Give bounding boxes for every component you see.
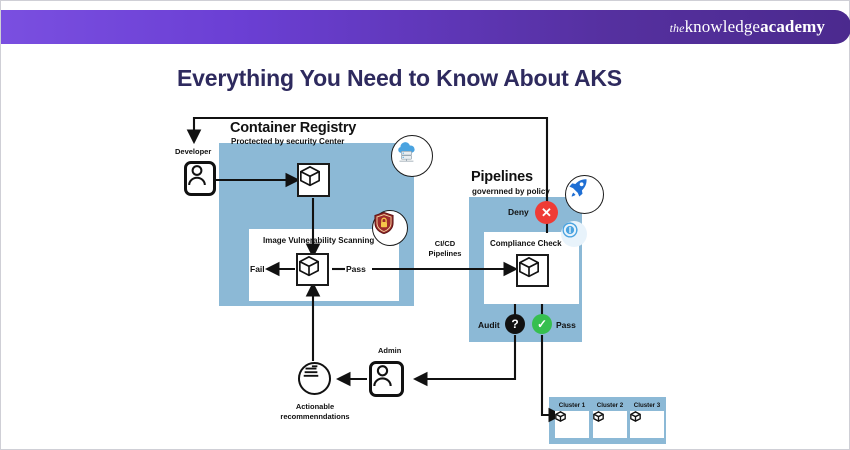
policy-icon xyxy=(561,221,579,239)
cloud-server-icon xyxy=(392,136,420,162)
rocket-icon xyxy=(566,176,590,200)
admin-label: Admin xyxy=(378,346,401,355)
person-icon xyxy=(372,364,393,387)
container-image-node[interactable] xyxy=(297,163,330,197)
shield-lock-icon-badge xyxy=(372,210,408,246)
pipelines-title: Pipelines xyxy=(471,169,533,185)
cluster-3-label: Cluster 3 xyxy=(630,402,664,409)
pipelines-subtitle: governned by policy xyxy=(472,187,550,196)
shield-lock-icon xyxy=(373,211,395,235)
cluster-2-node[interactable] xyxy=(593,411,627,438)
cube-icon xyxy=(299,165,321,187)
cube-icon xyxy=(518,256,540,278)
recommendations-node[interactable] xyxy=(298,362,331,395)
cluster-2-label: Cluster 2 xyxy=(593,402,627,409)
image-scanning-label: Image Vulnerability Scanning xyxy=(263,236,374,245)
screenshot-root: theknowledgeacademy Everything You Need … xyxy=(0,0,850,450)
cloud-server-icon-badge xyxy=(391,135,433,177)
audit-edge-label: Audit xyxy=(478,320,500,330)
aks-flow-diagram: Container Registry Proctected by securit… xyxy=(1,1,850,450)
container-registry-subtitle: Proctected by security Center xyxy=(231,137,344,146)
person-icon xyxy=(187,164,207,186)
pass-registry-edge-label: Pass xyxy=(346,264,366,274)
cube-icon xyxy=(630,411,641,422)
diagram-connectors xyxy=(1,1,850,450)
recommendations-label-line1: Actionable xyxy=(269,402,361,411)
audit-badge-symbol: ? xyxy=(511,317,518,331)
pass-badge-symbol: ✓ xyxy=(537,317,547,331)
developer-label: Developer xyxy=(175,147,211,156)
cluster-3-node[interactable] xyxy=(630,411,664,438)
pass-badge: ✓ xyxy=(532,314,552,334)
cluster-1-node[interactable] xyxy=(555,411,589,438)
deny-badge: ✕ xyxy=(535,201,558,224)
deny-edge-label: Deny xyxy=(508,207,529,217)
cube-icon xyxy=(298,255,320,277)
container-registry-title: Container Registry xyxy=(230,120,356,136)
cube-icon xyxy=(593,411,604,422)
recommendations-label-line2: recommenndations xyxy=(269,412,361,421)
deny-badge-symbol: ✕ xyxy=(541,205,552,221)
policy-icon-badge xyxy=(561,221,587,247)
compliance-check-label: Compliance Check xyxy=(490,239,562,248)
cluster-1-label: Cluster 1 xyxy=(555,402,589,409)
cicd-edge-label-line1: CI/CD xyxy=(422,239,468,248)
rocket-icon-badge xyxy=(565,175,604,214)
admin-node[interactable] xyxy=(369,361,404,397)
report-document-icon xyxy=(300,364,322,384)
compliance-image-node[interactable] xyxy=(516,254,549,287)
developer-node[interactable] xyxy=(184,161,216,196)
cube-icon xyxy=(555,411,566,422)
cicd-edge-label-line2: Pipelines xyxy=(422,249,468,258)
scanned-image-node[interactable] xyxy=(296,253,329,286)
fail-edge-label: Fail xyxy=(250,264,265,274)
pass-pipeline-edge-label: Pass xyxy=(556,320,576,330)
audit-badge: ? xyxy=(505,314,525,334)
